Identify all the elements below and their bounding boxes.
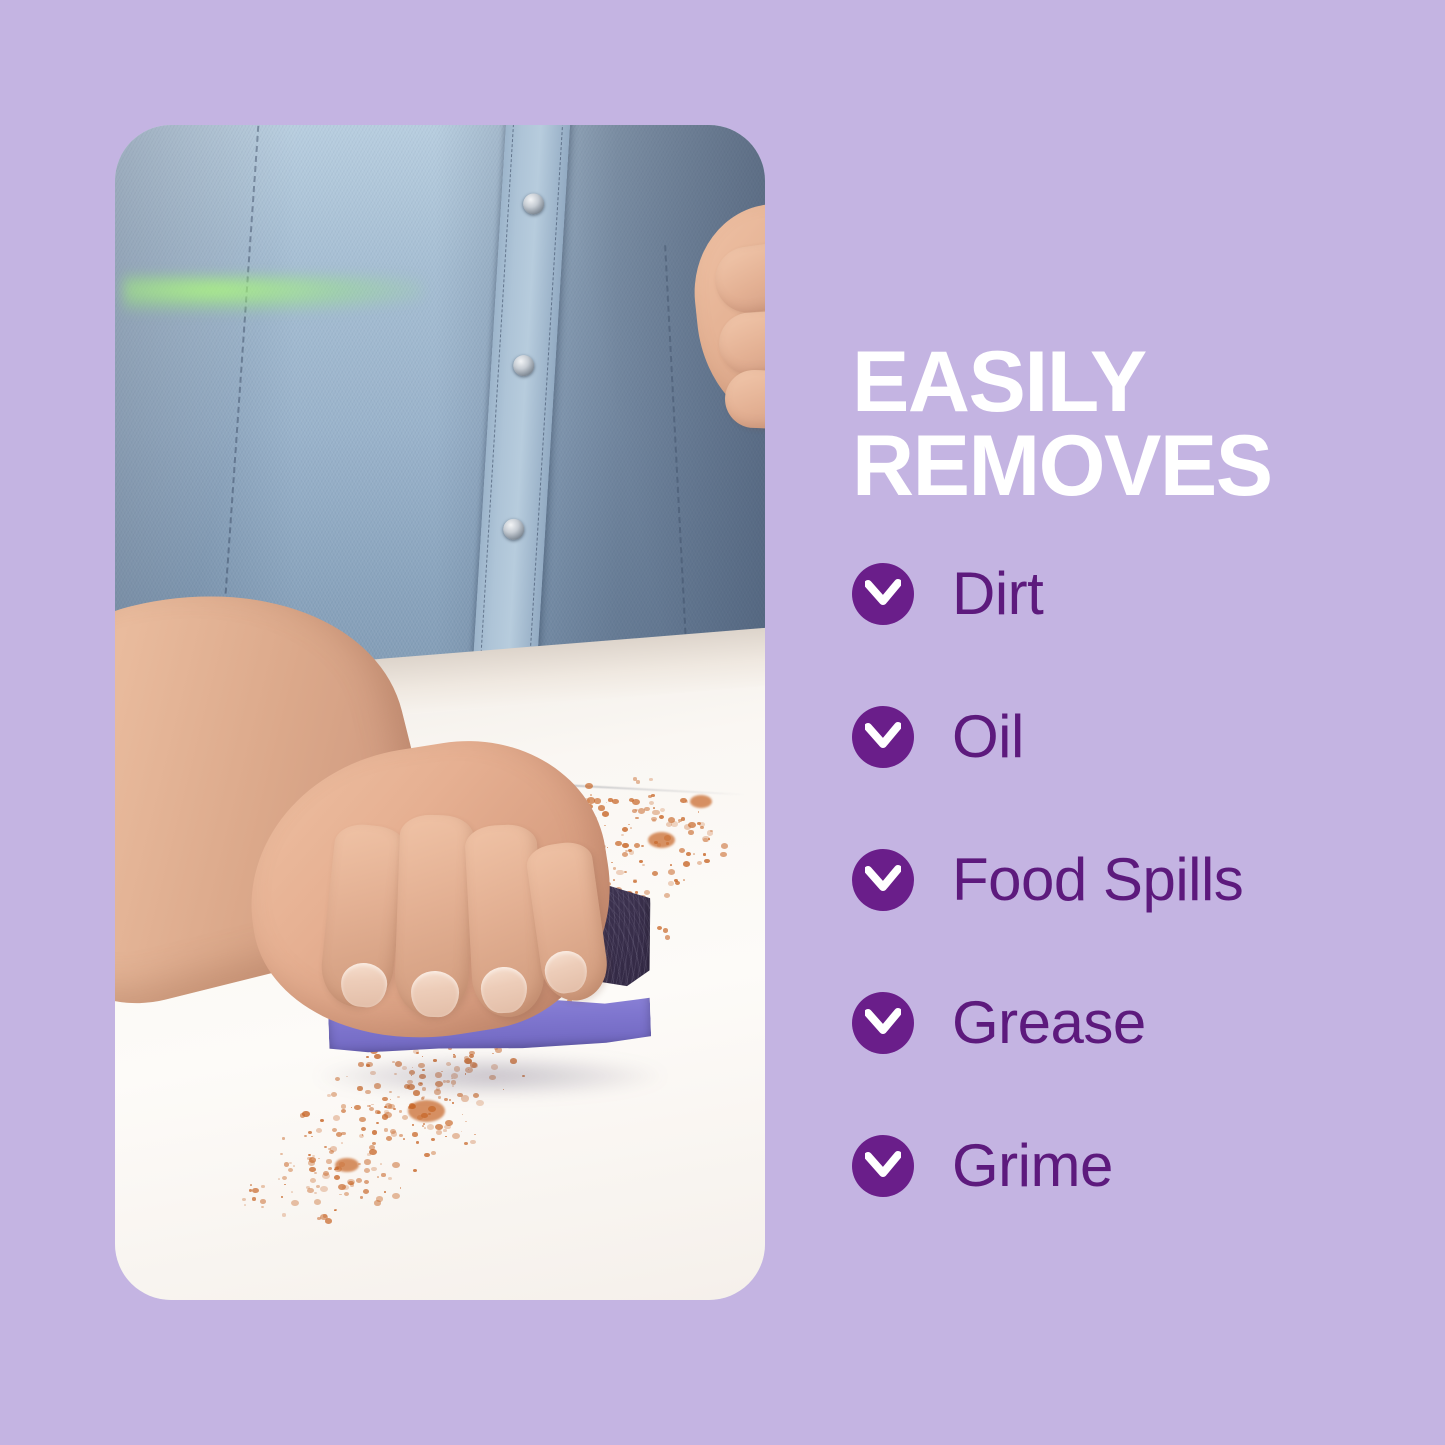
feature-label: Grease <box>952 993 1146 1053</box>
feature-item: Oil <box>852 665 1392 808</box>
product-feature-graphic: sim gre DILUTI 32 F EASILY REMOVES DirtO… <box>0 0 1445 1445</box>
feature-list: DirtOilFood SpillsGreaseGrime <box>852 522 1392 1237</box>
page-title: EASILY REMOVES <box>852 340 1382 509</box>
check-circle-icon <box>852 849 914 911</box>
feature-label: Grime <box>952 1136 1113 1196</box>
feature-item: Food Spills <box>852 808 1392 951</box>
feature-item: Grime <box>852 1094 1392 1237</box>
product-photo: sim gre DILUTI 32 F <box>115 125 765 1300</box>
check-circle-icon <box>852 706 914 768</box>
check-circle-icon <box>852 1135 914 1197</box>
headline-line-1: EASILY <box>852 340 1382 424</box>
shirt-snap-button <box>513 355 535 377</box>
feature-label: Food Spills <box>952 850 1243 910</box>
feature-label: Dirt <box>952 564 1043 624</box>
feature-label: Oil <box>952 707 1024 767</box>
headline-line-2: REMOVES <box>852 424 1382 508</box>
check-circle-icon <box>852 563 914 625</box>
photo-scene: sim gre DILUTI 32 F <box>115 125 765 1300</box>
sponge-green-glow <box>123 275 423 313</box>
shirt-snap-button <box>503 518 525 540</box>
content-column: EASILY REMOVES DirtOilFood SpillsGreaseG… <box>852 0 1392 1445</box>
shirt-snap-button <box>523 193 545 215</box>
check-circle-icon <box>852 992 914 1054</box>
feature-item: Dirt <box>852 522 1392 665</box>
feature-item: Grease <box>852 951 1392 1094</box>
